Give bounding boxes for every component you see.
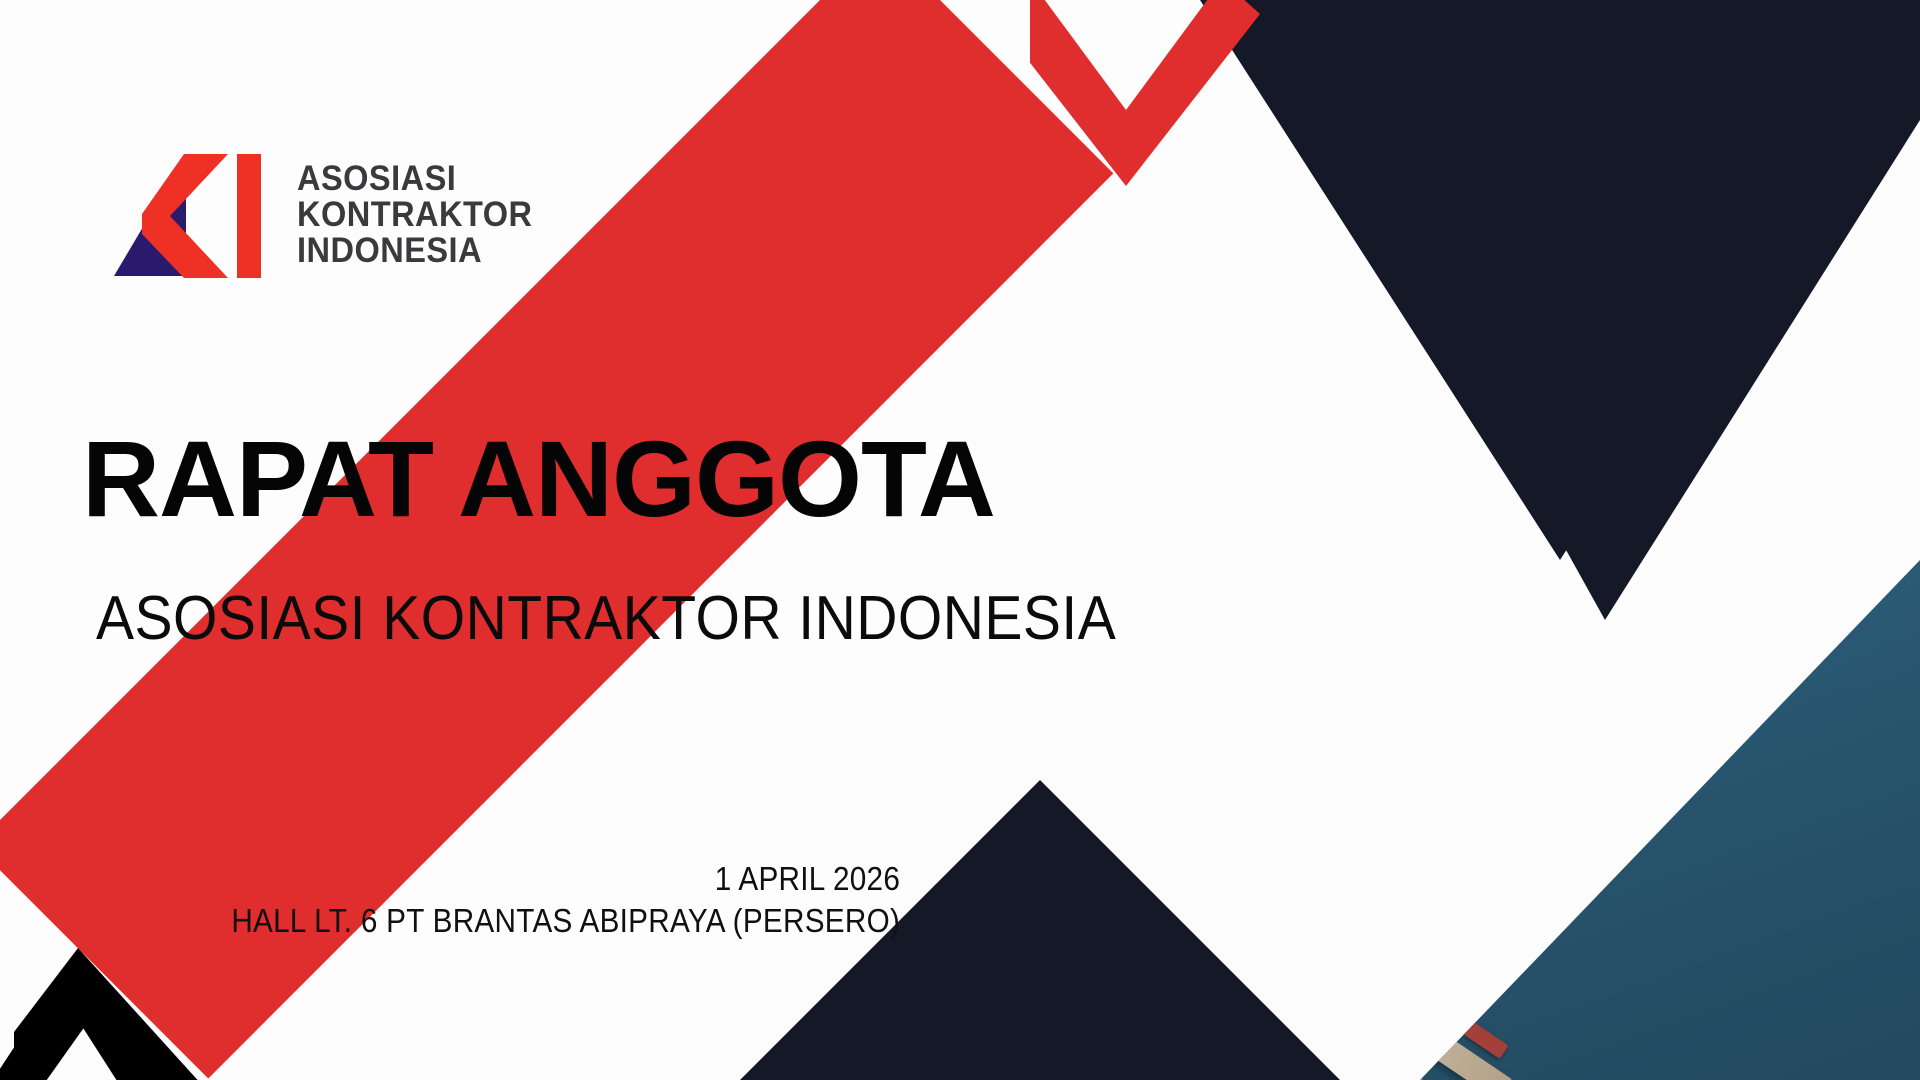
event-details: 1 APRIL 2026 HALL LT. 6 PT BRANTAS ABIPR… bbox=[157, 858, 900, 942]
logo-line-1: ASOSIASI bbox=[297, 161, 533, 197]
aki-chevron-mark bbox=[98, 150, 273, 280]
logo-line-2: KONTRAKTOR bbox=[297, 197, 533, 233]
aki-logo: ASOSIASI KONTRAKTOR INDONESIA bbox=[98, 150, 550, 280]
event-date: 1 APRIL 2026 bbox=[231, 858, 900, 900]
slide-subtitle: ASOSIASI KONTRAKTOR INDONESIA bbox=[96, 588, 1116, 650]
slide-title: RAPAT ANGGOTA bbox=[82, 425, 995, 533]
presentation-slide: ASOSIASI KONTRAKTOR INDONESIA RAPAT ANGG… bbox=[0, 0, 1920, 1080]
logo-line-3: INDONESIA bbox=[297, 233, 533, 269]
event-venue: HALL LT. 6 PT BRANTAS ABIPRAYA (PERSERO) bbox=[231, 900, 900, 942]
aki-logo-wordmark: ASOSIASI KONTRAKTOR INDONESIA bbox=[297, 161, 533, 268]
